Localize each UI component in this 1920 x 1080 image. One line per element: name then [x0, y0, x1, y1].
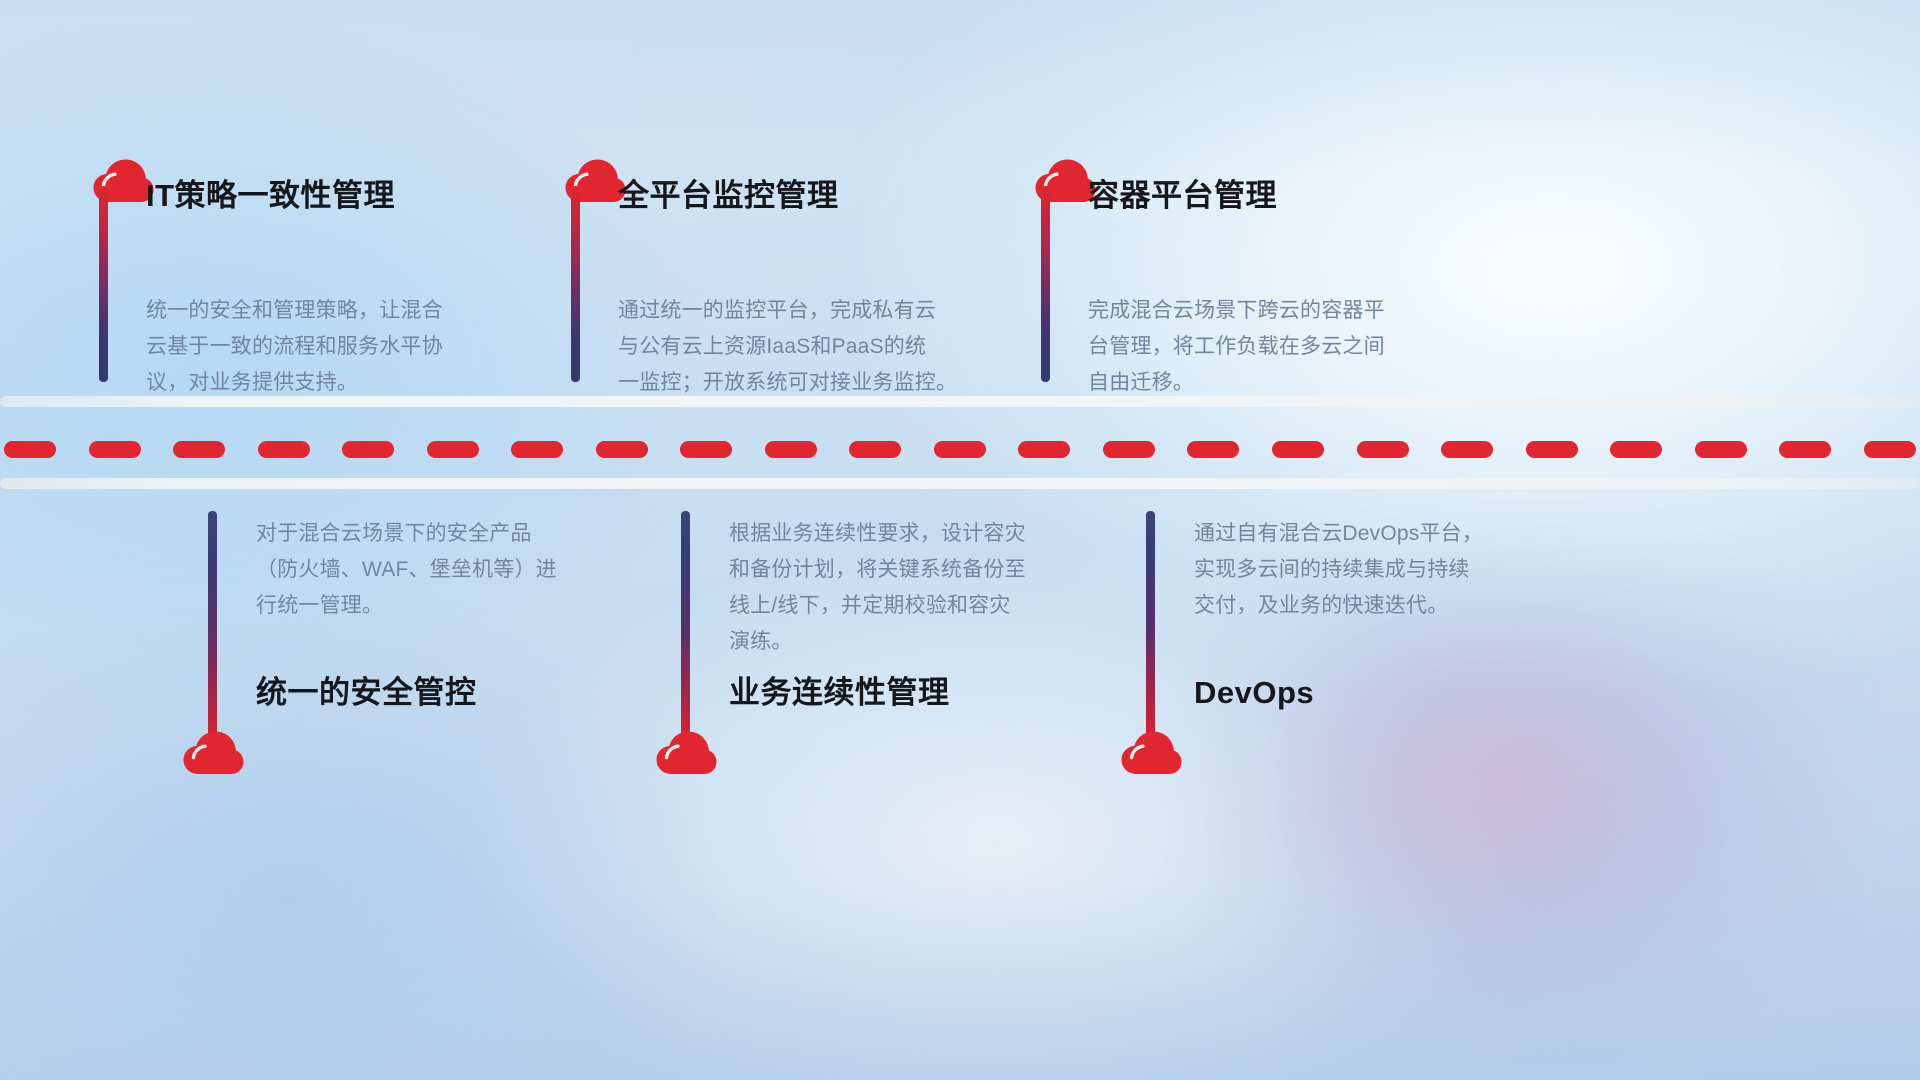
road-dash-segment	[1187, 441, 1239, 458]
road-dash-segment	[765, 441, 817, 458]
road-dash-segment	[427, 441, 479, 458]
item-connector-line	[208, 511, 217, 741]
item-title: 业务连续性管理	[729, 677, 950, 708]
item-connector-line	[1146, 511, 1155, 741]
road-dash-segment	[1357, 441, 1409, 458]
item-description: 通过统一的监控平台，完成私有云 与公有云上资源IaaS和PaaS的统 一监控；开…	[618, 293, 998, 401]
item-description: 统一的安全和管理策略，让混合 云基于一致的流程和服务水平协 议，对业务提供支持。	[146, 293, 506, 401]
road-dash-segment	[173, 441, 225, 458]
item-description: 完成混合云场景下跨云的容器平 台管理，将工作负载在多云之间 自由迁移。	[1088, 293, 1448, 401]
road-dash-segment	[89, 441, 141, 458]
item-description: 通过自有混合云DevOps平台， 实现多云间的持续集成与持续 交付，及业务的快速…	[1194, 516, 1554, 624]
road-dash-segment	[1441, 441, 1493, 458]
infographic-canvas: IT策略一致性管理 统一的安全和管理策略，让混合 云基于一致的流程和服务水平协 …	[0, 0, 1920, 1080]
item-title: IT策略一致性管理	[146, 180, 395, 211]
road-dash-segment	[596, 441, 648, 458]
road-dash-segment	[1695, 441, 1747, 458]
road-dash-segment	[1779, 441, 1831, 458]
cloud-pin-icon	[1120, 730, 1182, 776]
road-edge-bottom	[0, 478, 1920, 489]
item-title: DevOps	[1194, 677, 1314, 708]
road-dash-segment	[258, 441, 310, 458]
road-dash-segment	[934, 441, 986, 458]
road-dash-segment	[4, 441, 56, 458]
road-dash-segment	[1272, 441, 1324, 458]
road-dash-segment	[1526, 441, 1578, 458]
item-title: 统一的安全管控	[256, 677, 477, 708]
item-title: 容器平台管理	[1088, 180, 1277, 211]
road-dash-segment	[1610, 441, 1662, 458]
road-dash-segment	[1018, 441, 1070, 458]
road-dash-segment	[342, 441, 394, 458]
item-description: 对于混合云场景下的安全产品 （防火墙、WAF、堡垒机等）进 行统一管理。	[256, 516, 616, 624]
cloud-pin-icon	[655, 730, 717, 776]
road-dash-segment	[511, 441, 563, 458]
item-connector-line	[571, 186, 580, 382]
item-connector-line	[1041, 186, 1050, 382]
road-dash-segment	[1103, 441, 1155, 458]
road-dash-segment	[680, 441, 732, 458]
item-connector-line	[681, 511, 690, 741]
road-dash-segment	[1864, 441, 1916, 458]
cloud-pin-icon	[182, 730, 244, 776]
item-title: 全平台监控管理	[618, 180, 839, 211]
road-dash-segment	[849, 441, 901, 458]
item-description: 根据业务连续性要求，设计容灾 和备份计划，将关键系统备份至 线上/线下，并定期校…	[729, 516, 1089, 660]
road-center-dashes	[0, 440, 1920, 458]
item-connector-line	[99, 186, 108, 382]
